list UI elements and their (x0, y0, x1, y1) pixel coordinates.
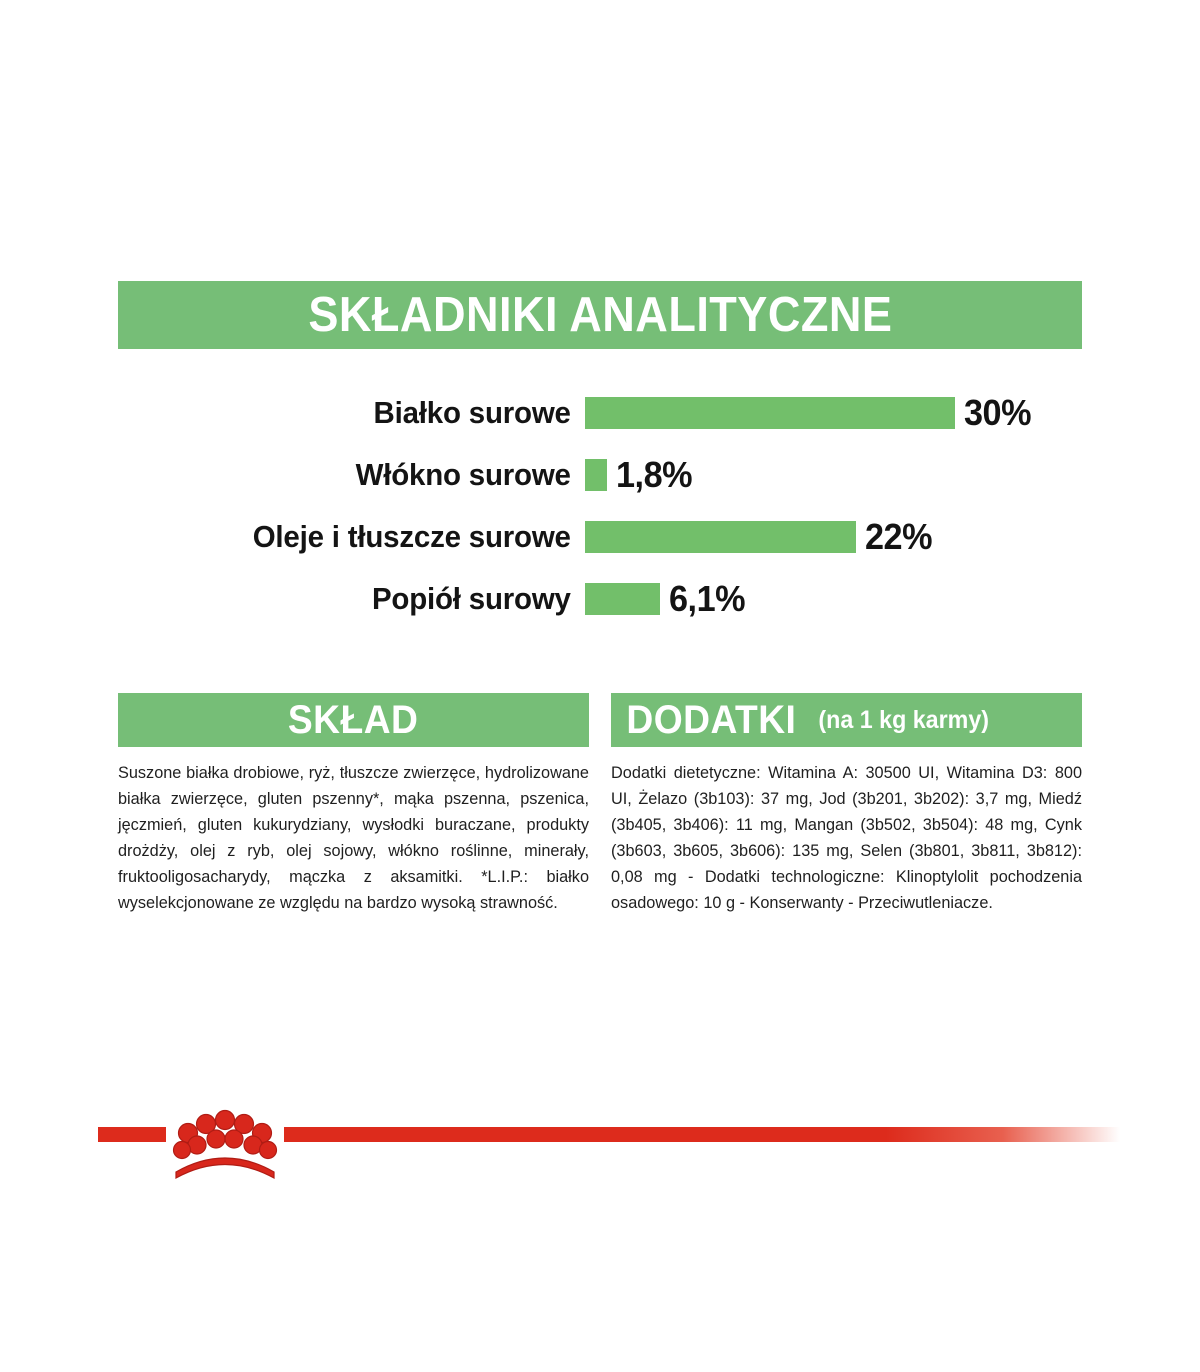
chart-bar-value: 22% (865, 516, 932, 558)
chart-bar (585, 583, 660, 615)
additives-panel-title: DODATKI (626, 698, 796, 743)
brand-rule-right (284, 1127, 1120, 1142)
chart-bar-area: 1,8% (585, 454, 1082, 496)
brand-rule-left (98, 1127, 166, 1142)
analytical-constituents-banner: SKŁADNIKI ANALITYCZNE (118, 281, 1082, 349)
chart-bar (585, 459, 607, 491)
nutrition-info-page: SKŁADNIKI ANALITYCZNE Białko surowe 30% … (0, 0, 1200, 1372)
composition-panel-title: SKŁAD (288, 698, 418, 743)
composition-panel-header: SKŁAD (118, 693, 589, 747)
chart-bar-value: 1,8% (616, 454, 692, 496)
additives-panel-subtitle: (na 1 kg karmy) (818, 706, 989, 735)
chart-row: Popiół surowy 6,1% (118, 568, 1082, 630)
chart-bar (585, 397, 955, 429)
composition-panel-body: Suszone białka drobiowe, ryż, tłuszcze z… (118, 760, 589, 916)
chart-bar-area: 30% (585, 392, 1082, 434)
analytical-constituents-chart: Białko surowe 30% Włókno surowe 1,8% Ole… (118, 382, 1082, 630)
info-panels: SKŁAD Suszone białka drobiowe, ryż, tłus… (118, 693, 1082, 916)
chart-row: Białko surowe 30% (118, 382, 1082, 444)
chart-bar-label: Włókno surowe (141, 457, 585, 493)
additives-panel-header: DODATKI (na 1 kg karmy) (611, 693, 1082, 747)
royal-canin-crown-icon (166, 1100, 284, 1182)
crown-arc (176, 1158, 274, 1178)
chart-row: Oleje i tłuszcze surowe 22% (118, 506, 1082, 568)
chart-bar-label: Oleje i tłuszcze surowe (141, 519, 585, 555)
additives-panel: DODATKI (na 1 kg karmy) Dodatki dietetyc… (611, 693, 1082, 916)
chart-bar-value: 30% (964, 392, 1031, 434)
chart-bar-label: Białko surowe (141, 395, 585, 431)
analytical-constituents-title: SKŁADNIKI ANALITYCZNE (308, 287, 892, 343)
brand-footer (0, 1100, 1200, 1190)
chart-bar-area: 6,1% (585, 578, 1082, 620)
chart-bar-area: 22% (585, 516, 1082, 558)
chart-bar (585, 521, 856, 553)
chart-bar-label: Popiół surowy (141, 581, 585, 617)
chart-row: Włókno surowe 1,8% (118, 444, 1082, 506)
additives-panel-body: Dodatki dietetyczne: Witamina A: 30500 U… (611, 760, 1082, 916)
composition-panel: SKŁAD Suszone białka drobiowe, ryż, tłus… (118, 693, 589, 916)
chart-bar-value: 6,1% (669, 578, 745, 620)
